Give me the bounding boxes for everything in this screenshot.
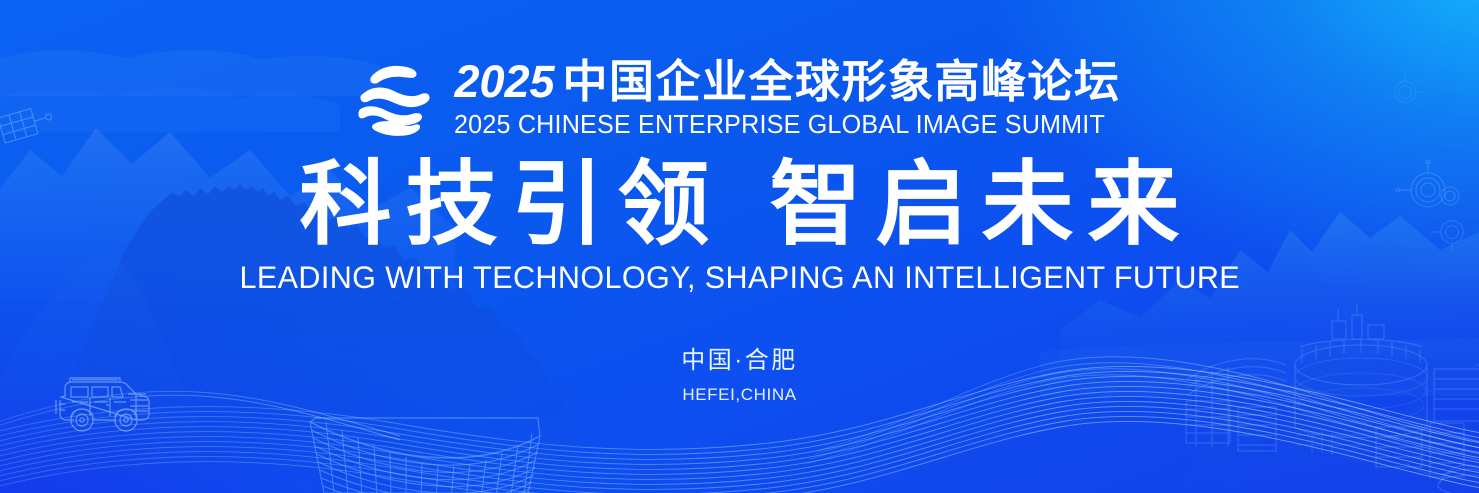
summit-title-cn-text: 中国企业全球形象高峰论坛 (563, 56, 1121, 107)
header-block: 2025中国企业全球形象高峰论坛 2025 CHINESE ENTERPRISE… (358, 58, 1120, 140)
summit-title-en: 2025 CHINESE ENTERPRISE GLOBAL IMAGE SUM… (454, 111, 1110, 140)
location-cn: 中国·合肥 (681, 340, 798, 375)
summit-title-cn: 2025中国企业全球形象高峰论坛 (454, 58, 1120, 106)
globe-ribbon-logo-icon (358, 60, 432, 138)
summit-banner: 2025中国企业全球形象高峰论坛 2025 CHINESE ENTERPRISE… (0, 0, 1479, 493)
header-titles: 2025中国企业全球形象高峰论坛 2025 CHINESE ENTERPRISE… (454, 58, 1120, 140)
summit-year: 2025 (454, 56, 554, 107)
slogan-cn-part1: 科技引领 (299, 150, 723, 258)
slogan-cn: 科技引领智启未来 (285, 154, 1193, 255)
location-en: HEFEI,CHINA (682, 385, 796, 405)
banner-content: 2025中国企业全球形象高峰论坛 2025 CHINESE ENTERPRISE… (0, 0, 1479, 493)
slogan-en: LEADING WITH TECHNOLOGY, SHAPING AN INTE… (239, 259, 1240, 296)
slogan-cn-part2: 智启未来 (770, 150, 1194, 258)
